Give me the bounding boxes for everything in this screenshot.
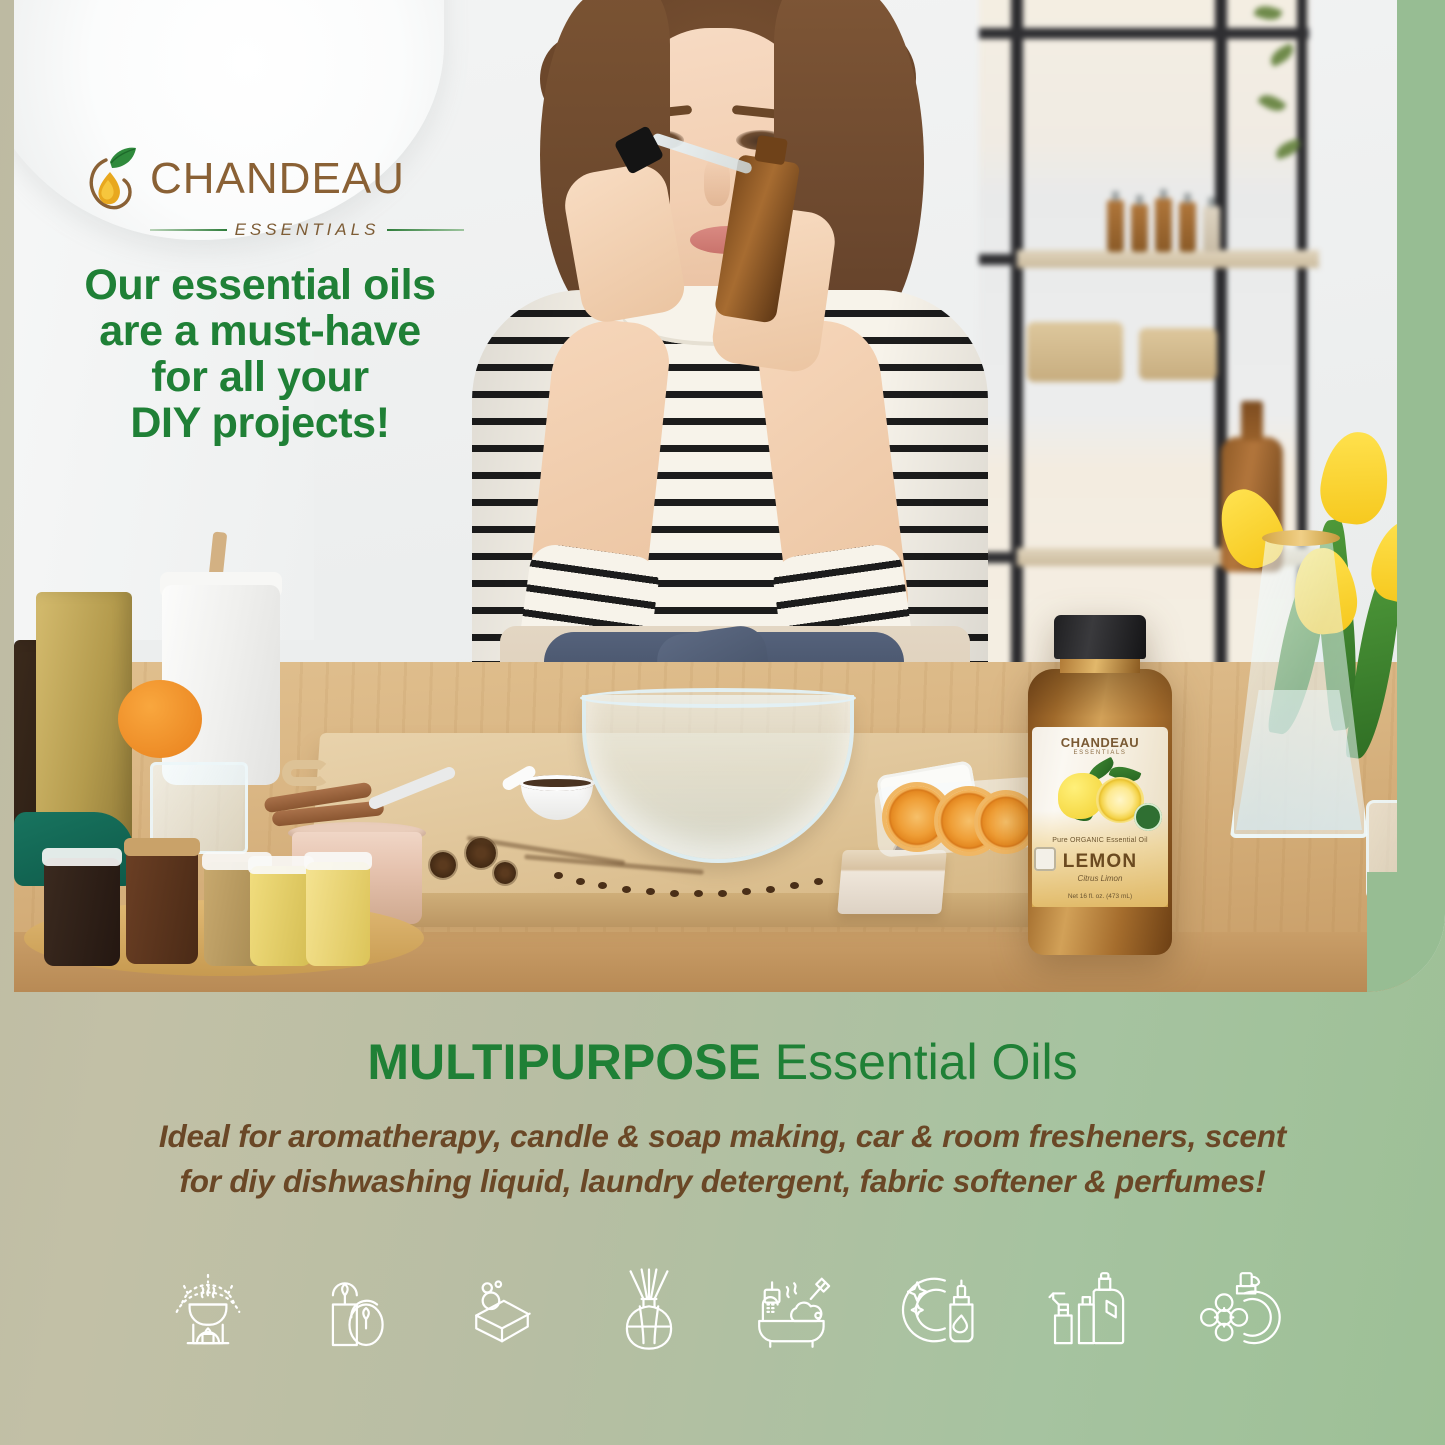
dish-soap-icon — [897, 1264, 989, 1356]
background-shelving — [979, 0, 1309, 672]
shelf-bottle — [1203, 206, 1220, 252]
soap-bar-icon — [456, 1264, 548, 1356]
spice-bean — [790, 882, 799, 889]
band-title-bold: MULTIPURPOSE — [367, 1034, 761, 1090]
band-subtitle-line-2: for diy dishwashing liquid, laundry dete… — [46, 1159, 1399, 1204]
spice-bean — [718, 890, 727, 897]
candle-icon — [309, 1264, 401, 1356]
shelf-bottle — [1131, 204, 1148, 252]
shelf-bottle — [1179, 202, 1196, 252]
page-headline: Our essential oils are a must-have for a… — [60, 262, 460, 446]
perfume-flower-icon — [1191, 1264, 1283, 1356]
shelf-vine — [1249, 0, 1319, 242]
handmade-soap-bar — [837, 850, 947, 914]
jar-cork-lid — [124, 838, 200, 856]
vine-leaf — [1273, 138, 1302, 159]
product-infographic: CHANDEAU ESSENTIALS Pure ORGANIC Essenti… — [0, 0, 1445, 1445]
label-net-contents: Net 16 fl. oz. (473 mL) — [1032, 893, 1168, 900]
cutting-board-handle — [282, 760, 330, 786]
spice-bean — [766, 886, 775, 893]
wax-jar — [250, 866, 312, 966]
wax-jar — [306, 862, 370, 966]
logo-wordmark: CHANDEAU — [150, 157, 405, 201]
logo-divider-right — [387, 229, 464, 231]
vine-leaf — [1267, 43, 1297, 67]
label-latin-name: Citrus Limon — [1032, 874, 1168, 883]
bottle-label: CHANDEAU ESSENTIALS Pure ORGANIC Essenti… — [1032, 727, 1168, 907]
shelf-basket — [1139, 328, 1217, 380]
band-subtitle: Ideal for aromatherapy, candle & soap ma… — [46, 1114, 1399, 1203]
logo-row: CHANDEAU — [84, 142, 464, 216]
carafe-gold-rim — [1262, 530, 1340, 546]
headline-line-2: are a must-have — [60, 308, 460, 354]
headline-line-1: Our essential oils — [60, 262, 460, 308]
shelf-bottle — [1155, 198, 1172, 252]
label-product-name: LEMON — [1032, 851, 1168, 873]
jar-lid — [42, 848, 122, 866]
spice-jar — [126, 848, 198, 964]
shelf-post — [1011, 0, 1023, 672]
photo-green-border — [1397, 0, 1445, 992]
label-descriptor: Pure ORGANIC Essential Oil — [1032, 837, 1168, 844]
use-case-icon-row — [0, 1264, 1445, 1356]
band-title-light: Essential Oils — [775, 1034, 1078, 1090]
band-title: MULTIPURPOSE Essential Oils — [0, 1037, 1445, 1087]
reed-diffuser-icon — [603, 1264, 695, 1356]
leaf-droplet-icon — [84, 142, 140, 216]
shelf-basket — [1027, 322, 1123, 382]
band-subtitle-line-1: Ideal for aromatherapy, candle & soap ma… — [46, 1114, 1399, 1159]
shelf-board — [1017, 250, 1319, 268]
spice-bean — [598, 882, 607, 889]
cleaning-bottles-icon — [1044, 1264, 1136, 1356]
spice-bean — [646, 888, 655, 895]
star-anise — [494, 862, 516, 884]
label-brand: CHANDEAU — [1032, 735, 1168, 750]
oil-burner-icon — [162, 1264, 254, 1356]
logo-tagline: ESSENTIALS — [235, 220, 380, 240]
spice-bean — [576, 878, 585, 885]
label-brand-sub: ESSENTIALS — [1032, 750, 1168, 756]
vine-leaf — [1253, 2, 1282, 24]
spice-jar — [44, 858, 120, 966]
shelf-bottle — [1107, 200, 1124, 252]
logo-divider-left — [150, 229, 227, 231]
bottle-shoulder — [1028, 669, 1172, 717]
usda-organic-seal-icon — [1134, 803, 1162, 831]
glass-bowl-rim — [580, 688, 856, 708]
product-bottle: CHANDEAU ESSENTIALS Pure ORGANIC Essenti… — [1020, 615, 1180, 955]
vine-leaf — [1257, 90, 1286, 116]
bottle-cap — [1054, 615, 1146, 659]
bottom-band: MULTIPURPOSE Essential Oils Ideal for ar… — [0, 992, 1445, 1445]
brand-logo: CHANDEAU ESSENTIALS — [84, 142, 464, 240]
headline-line-4: DIY projects! — [60, 400, 460, 446]
orange-fruit — [118, 680, 202, 758]
spice-bean — [670, 890, 679, 897]
spice-bean — [742, 888, 751, 895]
spice-bean — [554, 872, 563, 879]
bath-dropper-icon — [750, 1264, 842, 1356]
headline-line-3: for all your — [60, 354, 460, 400]
logo-sub-row: ESSENTIALS — [84, 220, 464, 240]
spice-bean — [814, 878, 823, 885]
star-anise — [430, 852, 456, 878]
spice-bean — [694, 890, 703, 897]
spice-bean — [622, 886, 631, 893]
woman-figure — [444, 0, 1004, 750]
jar-lid — [304, 852, 372, 870]
bottle-neck — [1060, 657, 1140, 673]
